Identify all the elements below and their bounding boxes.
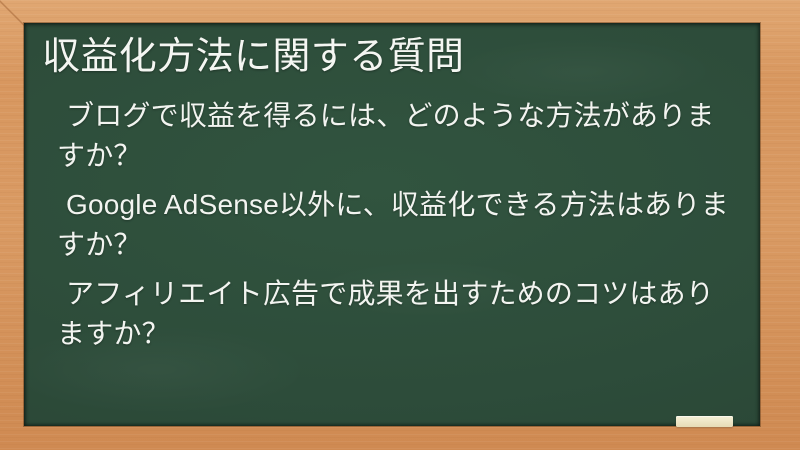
list-item: ブログで収益を得るには、どのような方法がありますか？ xyxy=(57,96,740,176)
chalkboard-slide: 収益化方法に関する質問 ブログで収益を得るには、どのような方法がありますか？ G… xyxy=(0,0,800,450)
question-list: ブログで収益を得るには、どのような方法がありますか？ Google AdSens… xyxy=(33,96,740,354)
chalkboard-surface: 収益化方法に関する質問 ブログで収益を得るには、どのような方法がありますか？ G… xyxy=(24,23,760,426)
page-title: 収益化方法に関する質問 xyxy=(33,33,740,82)
slide-content: 収益化方法に関する質問 ブログで収益を得るには、どのような方法がありますか？ G… xyxy=(24,23,760,426)
list-item: アフィリエイト広告で成果を出すためのコツはありますか？ xyxy=(57,274,740,354)
chalk-stick-icon xyxy=(676,416,733,427)
list-item: Google AdSense以外に、収益化できる方法はありますか？ xyxy=(57,185,740,265)
